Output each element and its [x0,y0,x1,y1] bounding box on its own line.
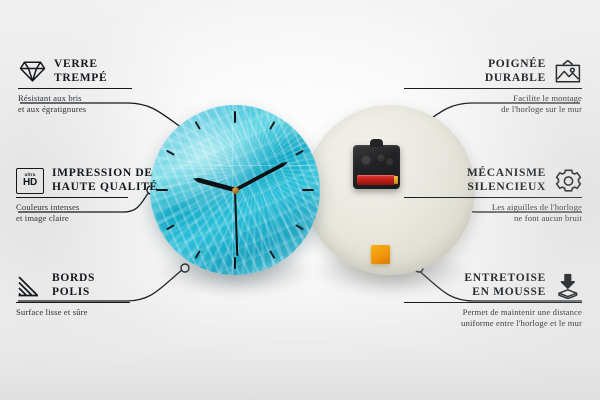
feature-divider [404,197,582,198]
feature-desc-line1: Permet de maintenir une distance [404,307,582,318]
hour-marker [234,257,236,269]
clock-mechanism [353,145,400,189]
feature-title-line1: IMPRESSION DE [52,167,158,181]
hour-marker [234,111,236,123]
feature-poignee-durable: POIGNÉE DURABLE Facilite le montage de l… [404,58,582,115]
feature-divider [404,88,582,89]
feature-header: ultra HD IMPRESSION DE HAUTE QUALITÉ [16,167,194,194]
feature-desc-line2: ne font aucun bruit [404,213,582,224]
product-infographic: VERRE TREMPÉ Résistant aux bris et aux é… [0,0,600,400]
hour-marker [302,189,314,191]
ultra-hd-icon: ultra HD [16,168,44,194]
feature-title: VERRE TREMPÉ [54,58,107,85]
feature-description: Les aiguilles de l'horloge ne font aucun… [404,202,582,223]
feature-header: POIGNÉE DURABLE [404,58,582,85]
hands-center-cap [232,187,239,194]
feature-description: Surface lisse et sûre [16,307,194,318]
battery [357,175,395,185]
feature-title-line2: TREMPÉ [54,72,107,86]
feature-title-line2: DURABLE [485,72,546,86]
feature-title-line2: EN MOUSSE [464,286,546,300]
feature-title-line1: POIGNÉE [485,58,546,72]
feature-title-line1: BORDS [52,272,95,286]
feature-desc-line1: Résistant aux bris [18,93,196,104]
feature-title: BORDS POLIS [52,272,95,299]
hd-badge: ultra HD [16,168,44,194]
foam-spacer-pad [371,245,390,264]
mechanism-embossing [358,151,395,168]
feature-title-line2: POLIS [52,286,95,300]
feature-title-line1: VERRE [54,58,107,72]
feature-desc-line1: Facilite le montage [404,93,582,104]
feature-desc-line2: et aux égratignures [18,104,196,115]
mechanism-spindle [370,139,383,147]
feature-divider [18,88,132,89]
feature-title-line2: SILENCIEUX [467,181,546,195]
feature-divider [404,302,582,303]
feature-desc-line1: Les aiguilles de l'horloge [404,202,582,213]
feature-header: VERRE TREMPÉ [18,58,196,85]
feature-desc-line2: de l'horloge sur le mur [404,104,582,115]
diamond-icon [18,59,46,85]
feature-description: Résistant aux bris et aux égratignures [18,93,196,114]
feature-divider [16,197,128,198]
feature-header: MÉCANISME SILENCIEUX [404,167,582,194]
feature-title-line1: MÉCANISME [467,167,546,181]
feature-header: BORDS POLIS [16,272,194,299]
feature-header: ENTRETOISE EN MOUSSE [404,272,582,299]
feature-title: IMPRESSION DE HAUTE QUALITÉ [52,167,158,194]
feature-description: Permet de maintenir une distance uniform… [404,307,582,328]
feature-desc-line2: et image claire [16,213,194,224]
gear-icon [554,168,582,194]
hd-badge-main: HD [23,178,37,188]
feature-mecanisme-silencieux: MÉCANISME SILENCIEUX Les aiguilles de l'… [404,167,582,224]
picture-hanger-icon [554,59,582,85]
feature-description: Facilite le montage de l'horloge sur le … [404,93,582,114]
feature-desc-line2: uniforme entre l'horloge et le mur [404,318,582,329]
feature-bords-polis: BORDS POLIS Surface lisse et sûre [16,272,194,318]
feature-impression-haute-qualite: ultra HD IMPRESSION DE HAUTE QUALITÉ Cou… [16,167,194,224]
foam-spacer-icon [554,273,582,299]
feature-divider [16,302,130,303]
feature-entretoise-en-mousse: ENTRETOISE EN MOUSSE Permet de maintenir… [404,272,582,329]
feature-verre-trempe: VERRE TREMPÉ Résistant aux bris et aux é… [18,58,196,115]
feature-title-line2: HAUTE QUALITÉ [52,181,158,195]
feature-desc-line1: Surface lisse et sûre [16,307,194,318]
feature-title: ENTRETOISE EN MOUSSE [464,272,546,299]
feature-title-line1: ENTRETOISE [464,272,546,286]
polished-edges-icon [16,273,44,299]
feature-desc-line1: Couleurs intenses [16,202,194,213]
feature-title: POIGNÉE DURABLE [485,58,546,85]
feature-description: Couleurs intenses et image claire [16,202,194,223]
feature-title: MÉCANISME SILENCIEUX [467,167,546,194]
